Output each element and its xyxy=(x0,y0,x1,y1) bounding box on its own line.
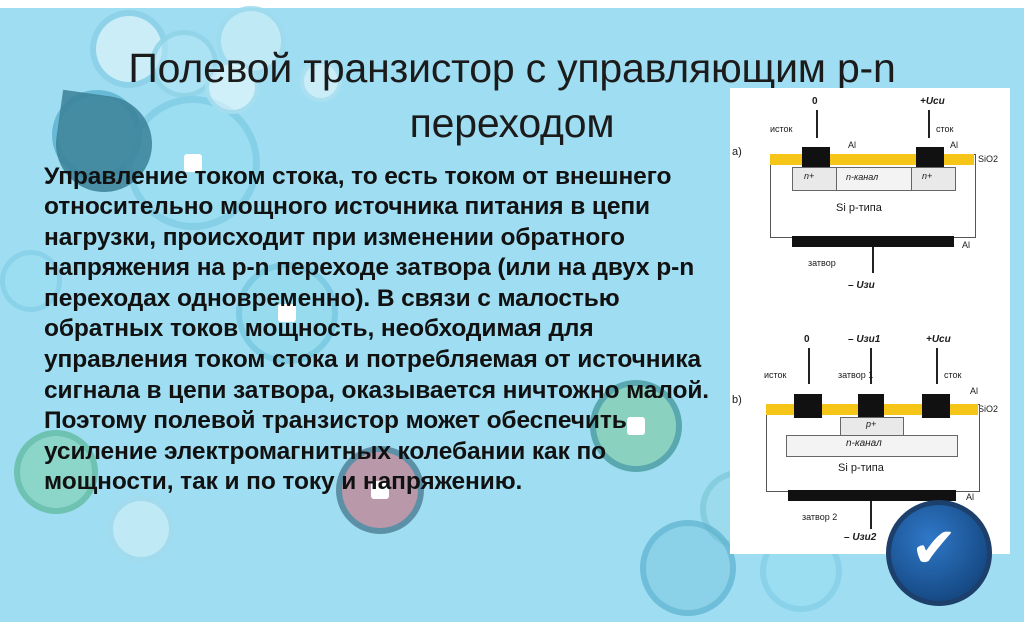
panel-b-top-right-voltage: +Uси xyxy=(926,334,951,345)
panel-a-drain-label: сток xyxy=(936,124,953,134)
slide-bottom-border xyxy=(0,622,1024,640)
panel-a-region-right-label: n+ xyxy=(922,171,932,181)
panel-a-gate-label: затвор xyxy=(808,258,836,268)
slide-top-border xyxy=(0,0,1024,8)
panel-a-nplus-left xyxy=(792,167,838,191)
panel-b-top-left-voltage: 0 xyxy=(804,334,810,345)
panel-a-source-label: исток xyxy=(770,124,793,134)
panel-b-source-contact xyxy=(794,394,822,418)
panel-a-drain-lead xyxy=(928,110,930,138)
panel-a-top-right-voltage: +Uси xyxy=(920,96,945,107)
panel-b-drain-contact xyxy=(922,394,950,418)
panel-a-substrate-label: Si p-типа xyxy=(836,202,882,214)
panel-a-gate-lead xyxy=(872,247,874,273)
panel-b-gate2-label: затвор 2 xyxy=(802,512,837,522)
decor-bubble xyxy=(108,496,174,562)
panel-b-gate2-lead xyxy=(870,501,872,529)
panel-b-substrate-label: Si p-типа xyxy=(838,462,884,474)
panel-b-gate2-voltage: – Uзи2 xyxy=(844,532,876,543)
panel-a-source-contact xyxy=(802,147,830,169)
panel-a-top-left-voltage: 0 xyxy=(812,96,818,107)
figure-jfet-structure: a) 0 +Uси исток сток Al Al SiO2 n+ n+ n-… xyxy=(730,88,1010,554)
panel-a-bottom-metal-label: Al xyxy=(962,240,970,250)
panel-a-metal-left-label: Al xyxy=(848,140,856,150)
check-icon: ✔ xyxy=(886,500,982,596)
check-glyph: ✔ xyxy=(911,520,958,576)
panel-a-gate-voltage: – Uзи xyxy=(848,280,875,291)
panel-a-channel-label: n-канал xyxy=(846,172,878,182)
panel-a-metal-right-label: Al xyxy=(950,140,958,150)
panel-b-drain-lead xyxy=(936,348,938,384)
panel-b-top-mid-voltage: – Uзи1 xyxy=(848,334,880,345)
panel-a-bottom-metal xyxy=(792,236,954,247)
panel-b-source-label: исток xyxy=(764,370,787,380)
figure-panel-a: a) 0 +Uси исток сток Al Al SiO2 n+ n+ n-… xyxy=(730,94,1010,300)
panel-a-letter: a) xyxy=(732,146,742,158)
panel-a-nplus-right xyxy=(910,167,956,191)
panel-b-oxide-label: SiO2 xyxy=(978,404,998,414)
panel-b-letter: b) xyxy=(732,394,742,406)
panel-a-region-left-label: n+ xyxy=(804,171,814,181)
panel-b-gate1-label: затвор 1 xyxy=(838,370,873,380)
body-paragraph: Управление током стока, то есть током от… xyxy=(44,162,716,499)
slide: Полевой транзистор с управляющим p-n пер… xyxy=(0,0,1024,640)
panel-b-drain-label: сток xyxy=(944,370,961,380)
panel-b-region-mid-label: p+ xyxy=(866,419,876,429)
panel-b-metal-right-label: Al xyxy=(970,386,978,396)
decor-bubble xyxy=(640,520,736,616)
panel-a-source-lead xyxy=(816,110,818,138)
panel-a-oxide-label: SiO2 xyxy=(978,154,998,164)
panel-b-channel-label: n-канал xyxy=(846,438,882,449)
panel-b-gate1-contact xyxy=(858,394,884,418)
panel-b-source-lead xyxy=(808,348,810,384)
panel-a-drain-contact xyxy=(916,147,944,169)
